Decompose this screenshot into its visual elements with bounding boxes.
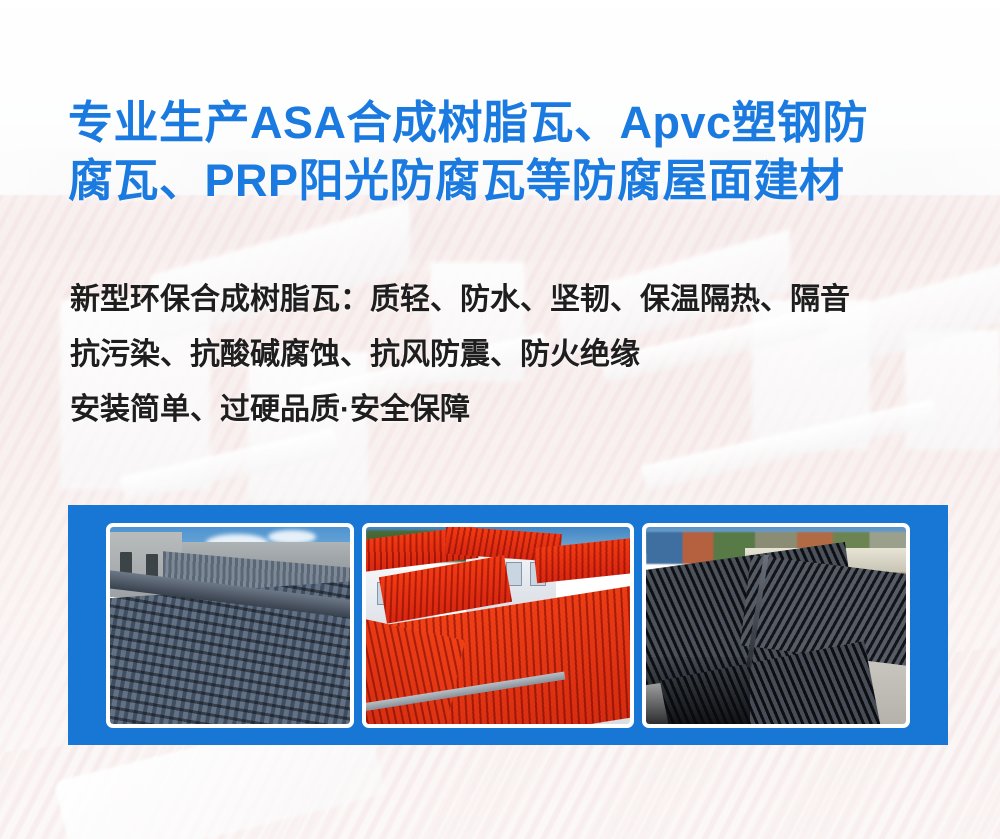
headline: 专业生产ASA合成树脂瓦、Apvc塑钢防 腐瓦、PRP阳光防腐瓦等防腐屋面建材 [68, 94, 958, 210]
subtitle-line-1: 新型环保合成树脂瓦：质轻、防水、坚韧、保温隔热、隔音 [70, 272, 970, 327]
photo-3-content [646, 527, 906, 724]
headline-line-2: 腐瓦、PRP阳光防腐瓦等防腐屋面建材 [68, 152, 958, 210]
photo-1-content [110, 527, 350, 724]
red-resin-tile-roof-photo[interactable] [362, 523, 634, 728]
black-resin-tile-roof-photo[interactable] [642, 523, 910, 728]
subtitle-block: 新型环保合成树脂瓦：质轻、防水、坚韧、保温隔热、隔音 抗污染、抗酸碱腐蚀、抗风防… [70, 272, 970, 437]
subtitle-line-2: 抗污染、抗酸碱腐蚀、抗风防震、防火绝缘 [70, 327, 970, 382]
promo-banner: 专业生产ASA合成树脂瓦、Apvc塑钢防 腐瓦、PRP阳光防腐瓦等防腐屋面建材 … [0, 0, 1000, 839]
photo-2-content [366, 527, 630, 724]
headline-line-1: 专业生产ASA合成树脂瓦、Apvc塑钢防 [68, 94, 958, 152]
photo-gallery-panel [68, 505, 948, 745]
grey-resin-tile-roof-photo[interactable] [106, 523, 354, 728]
subtitle-line-3: 安装简单、过硬品质·安全保障 [70, 382, 970, 437]
photo-3-shadow [646, 657, 750, 724]
